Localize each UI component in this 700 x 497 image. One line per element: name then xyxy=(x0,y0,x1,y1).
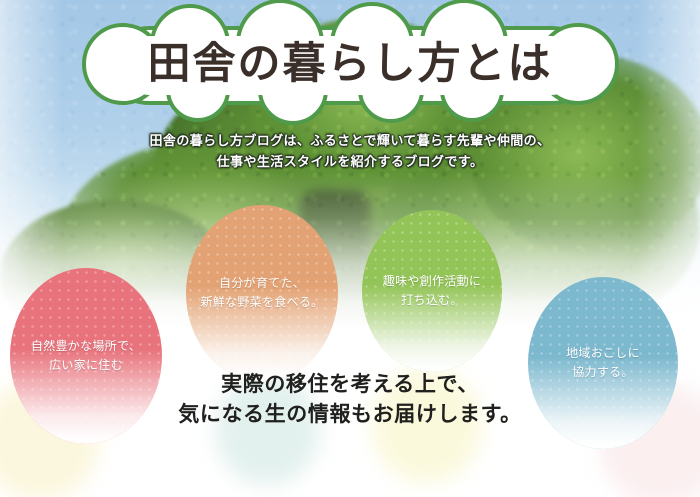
bubble-hobby-creative-work[interactable]: 趣味や創作活動に 打ち込む。 xyxy=(362,210,502,372)
title-cloud-shape: 田舎の暮らし方とは xyxy=(104,26,597,105)
bubble-label-line: 自然豊かな場所で、 xyxy=(31,337,141,356)
closing-line: 実際の移住を考える上で、 xyxy=(0,370,700,400)
bubble-label: 自分が育てた、 新鮮な野菜を食べる。 xyxy=(194,274,329,312)
bubble-label-line: 趣味や創作活動に xyxy=(383,272,481,291)
lead-paragraph: 田舎の暮らし方ブログは、ふるさとで輝いて暮らす先輩や仲間の、 仕事や生活スタイル… xyxy=(0,130,700,172)
lead-line: 仕事や生活スタイルを紹介するブログです。 xyxy=(0,151,700,172)
closing-copy: 実際の移住を考える上で、 気になる生の情報もお届けします。 xyxy=(0,370,700,430)
bubble-label-line: 自分が育てた、 xyxy=(200,274,323,293)
page-title: 田舎の暮らし方とは xyxy=(148,43,553,86)
bubble-label: 趣味や創作活動に 打ち込む。 xyxy=(377,272,487,310)
bubble-label-line: 新鮮な野菜を食べる。 xyxy=(200,293,323,312)
title-block: 田舎の暮らし方とは xyxy=(0,26,700,105)
bubble-home-grown-vegetables[interactable]: 自分が育てた、 新鮮な野菜を食べる。 xyxy=(186,205,338,381)
bubble-label-line: 打ち込む。 xyxy=(383,291,481,310)
hero-banner: 自然豊かな場所で、 広い家に住む 自分が育てた、 新鮮な野菜を食べる。 趣味や創… xyxy=(0,0,700,497)
lead-line: 田舎の暮らし方ブログは、ふるさとで輝いて暮らす先輩や仲間の、 xyxy=(0,130,700,151)
bubble-label-line: 地域おこしに xyxy=(566,344,640,363)
closing-line: 気になる生の情報もお届けします。 xyxy=(0,400,700,430)
